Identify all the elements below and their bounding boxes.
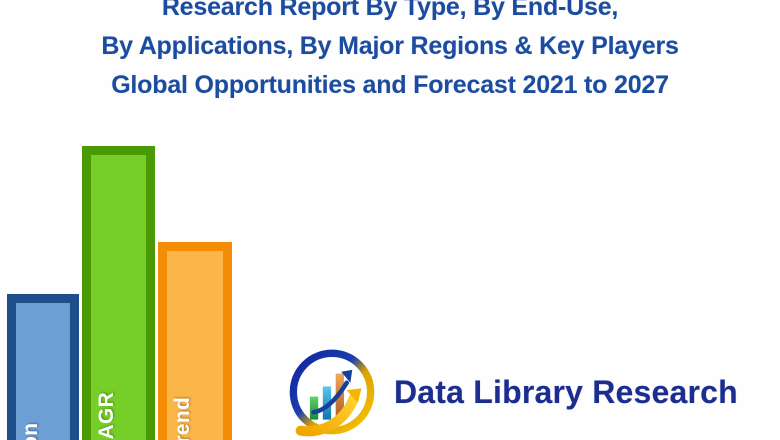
brand-name: Data Library Research [394,374,738,411]
data-library-research-logo-icon [286,346,378,438]
bar-usd-xx-million: USD XX Million [7,294,79,440]
bar-market-trend: Market Trend [158,242,232,440]
market-highlights-bar-chart: USD XX Million % CAGR Market Trend [0,0,260,440]
brand-logo[interactable]: Data Library Research [286,344,726,440]
bar-usd-label-wrap: USD XX Million [7,294,79,440]
report-banner: Research Report By Type, By End-Use, By … [0,0,780,440]
bar-cagr-label-wrap: % CAGR [82,146,155,440]
bar-percent-cagr: % CAGR [82,146,155,440]
bar-label-market-trend: Market Trend [171,397,195,440]
bar-label-percent-cagr: % CAGR [95,392,119,440]
bar-trend-label-wrap: Market Trend [158,242,232,440]
bar-label-usd-xx-million: USD XX Million [19,423,43,440]
